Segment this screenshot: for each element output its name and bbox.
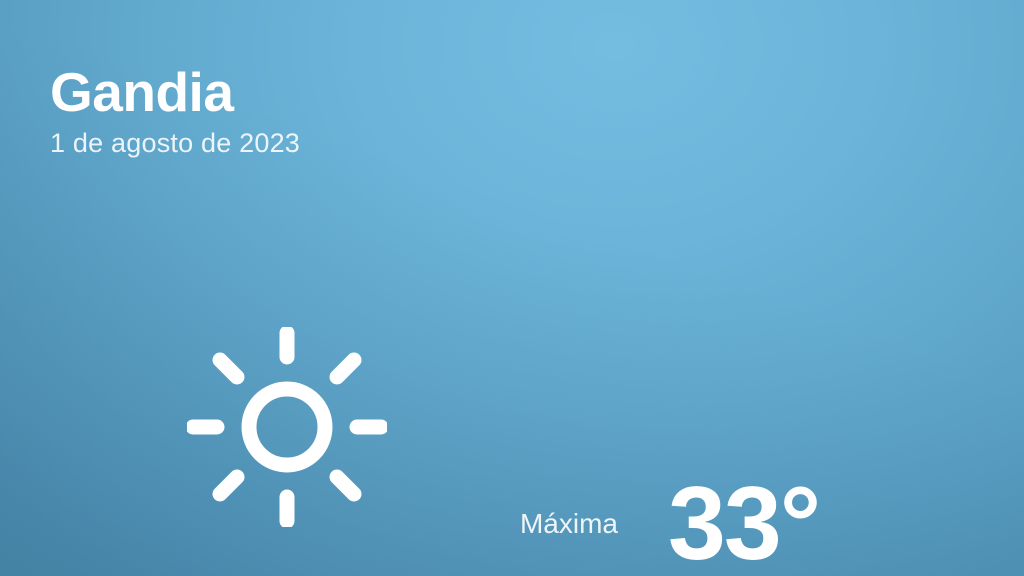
weather-card: Gandia 1 de agosto de 2023 — [0, 0, 1024, 576]
reading-row-maxima: Máxima 33° — [360, 455, 960, 576]
sun-ray-se — [337, 477, 354, 494]
sun-icon — [187, 327, 387, 527]
sun-icon-graphic — [187, 327, 387, 527]
readings-list: Máxima 33° Mínima 25° Prob. precipitació… — [360, 455, 960, 576]
sun-ray-ne — [337, 360, 354, 377]
sun-disc — [249, 389, 325, 465]
city-name: Gandia — [50, 64, 1024, 122]
maxima-value: 33° — [668, 472, 819, 576]
forecast-date: 1 de agosto de 2023 — [50, 128, 1024, 159]
sun-ray-nw — [220, 360, 237, 377]
header: Gandia 1 de agosto de 2023 — [50, 64, 1024, 159]
sun-ray-sw — [220, 477, 237, 494]
maxima-label: Máxima — [360, 508, 668, 540]
